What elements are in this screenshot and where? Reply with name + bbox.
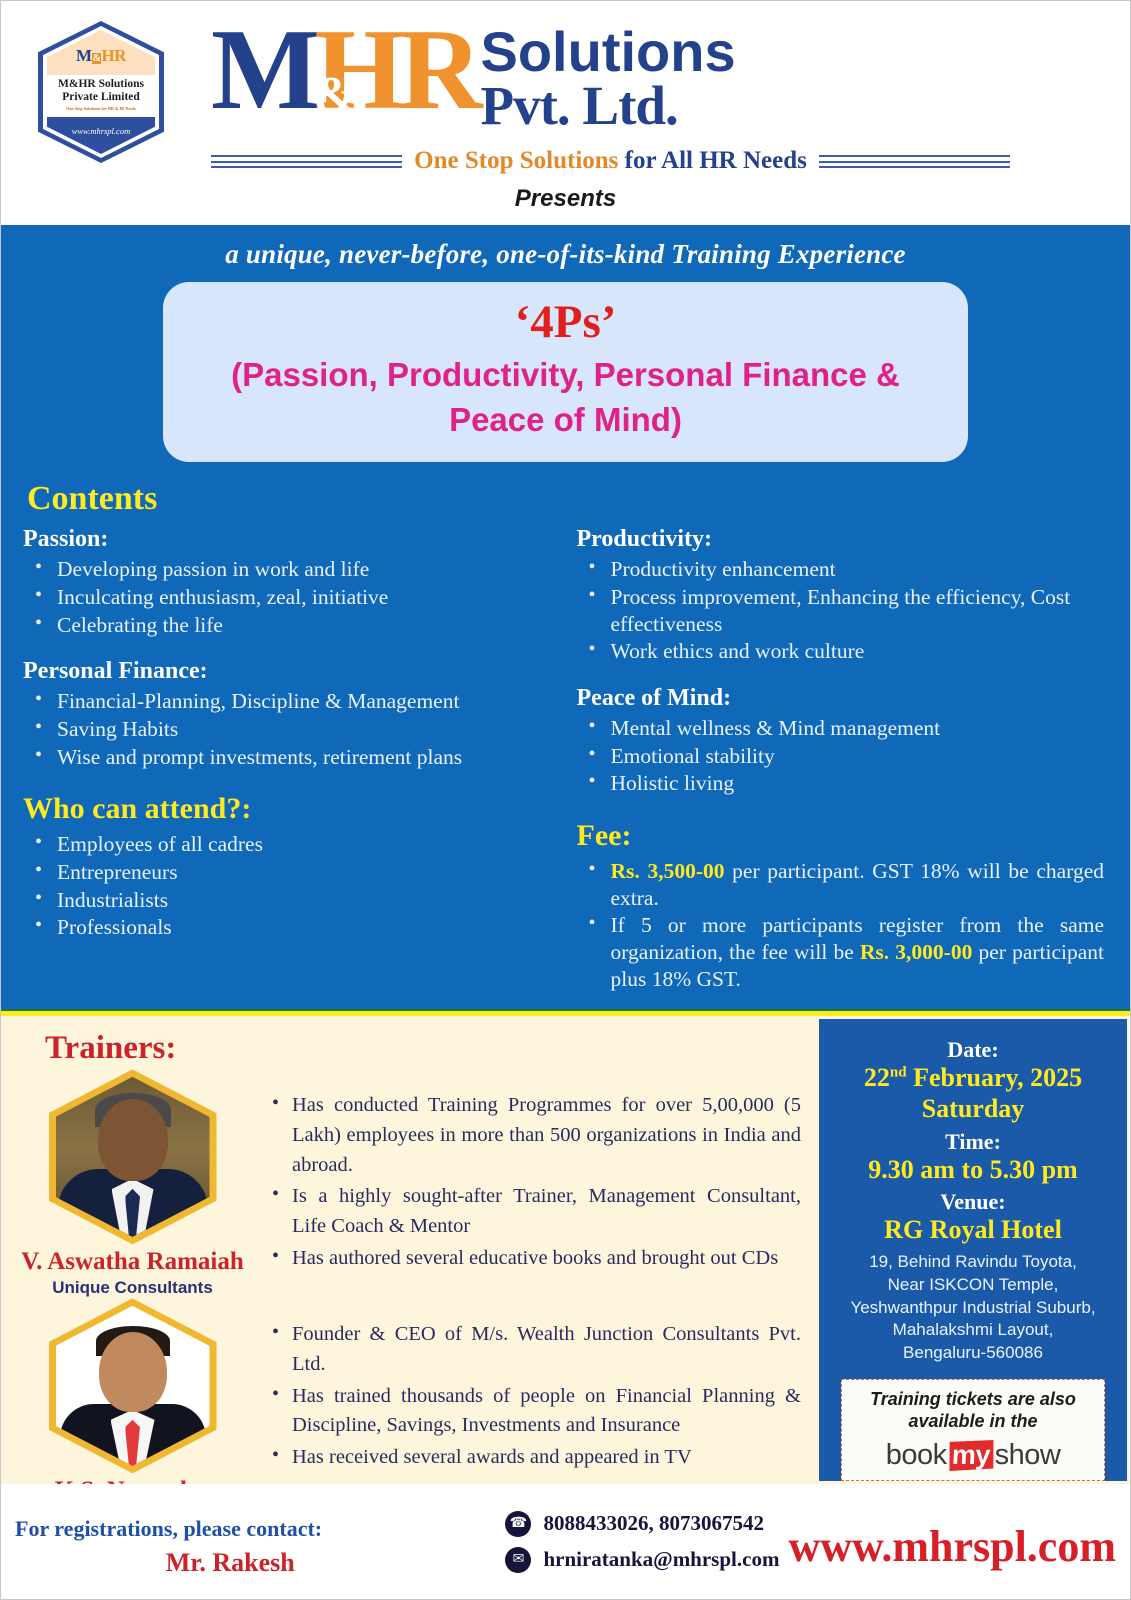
phone-numbers[interactable]: 8088433026, 8073067542 xyxy=(543,1511,764,1536)
venue-address: 19, Behind Ravindu Toyota, Near ISKCON T… xyxy=(829,1251,1117,1365)
list-personal-finance: Financial-Planning, Discipline & Managem… xyxy=(25,688,555,770)
brand-mhr: MHR& xyxy=(211,17,477,124)
logo-line-3: One Stop Solutions for HR & IR Needs xyxy=(47,106,155,111)
event-date: 22nd February, 2025 xyxy=(829,1063,1117,1094)
fee-amount-group: Rs. 3,000-00 xyxy=(860,940,972,964)
contents-right-column: Productivity: Productivity enhancement P… xyxy=(577,524,1109,993)
phone-row[interactable]: ☎ 8088433026, 8073067542 xyxy=(505,1511,788,1537)
logo-website: www.mhrspl.com xyxy=(72,126,130,136)
list-item: Founder & CEO of M/s. Wealth Junction Co… xyxy=(264,1320,809,1379)
avatar xyxy=(56,1077,210,1237)
logo-line-2: Private Limited xyxy=(47,91,155,104)
trainers-venue-row: Trainers: V. Aswatha Ramaiah Uniq xyxy=(1,1016,1130,1484)
footer-contact-block: For registrations, please contact: Mr. R… xyxy=(15,1516,505,1578)
date-month-year: February, 2025 xyxy=(907,1063,1083,1092)
hero-title: ‘4Ps’ xyxy=(185,298,946,347)
trainers-section: Trainers: V. Aswatha Ramaiah Uniq xyxy=(1,1016,819,1484)
training-flyer: M&HR M&HR Solutions Private Limited One … xyxy=(0,0,1131,1600)
logo-hexagon-outer: M&HR M&HR Solutions Private Limited One … xyxy=(38,21,164,163)
tagline-text: One Stop Solutions for All HR Needs xyxy=(414,147,807,175)
bms-book: book xyxy=(886,1439,947,1472)
fee-amount-standard: Rs. 3,500-00 xyxy=(611,859,725,883)
tagline-rule-right xyxy=(819,155,1010,168)
logo-mid-text: M&HR Solutions Private Limited One Stop … xyxy=(47,75,155,117)
brand-pvt-ltd: Pvt. Ltd. xyxy=(481,78,736,133)
list-item: Has authored several educative books and… xyxy=(264,1244,809,1274)
list-item: Financial-Planning, Discipline & Managem… xyxy=(25,688,555,715)
time-label: Time: xyxy=(829,1129,1117,1155)
avatar-face xyxy=(99,1332,167,1412)
list-item: Is a highly sought-after Trainer, Manage… xyxy=(264,1182,809,1241)
registration-label: For registrations, please contact: xyxy=(15,1516,505,1542)
list-productivity: Productivity enhancement Process improve… xyxy=(579,556,1109,665)
list-fee: Rs. 3,500-00 per participant. GST 18% wi… xyxy=(579,858,1109,992)
trainer-card: K.S. Narendra Founder & CEO of M/s. Weal… xyxy=(15,1298,809,1505)
list-item: Industrialists xyxy=(25,887,555,914)
section-heading-productivity: Productivity: xyxy=(577,526,1109,553)
logo-monogram-amp: & xyxy=(92,53,102,64)
brand-letter-m: M xyxy=(211,6,315,134)
section-heading-passion: Passion: xyxy=(23,526,555,553)
footer-contact-details: ☎ 8088433026, 8073067542 ✉ hrniratanka@m… xyxy=(505,1511,788,1583)
list-item: Developing passion in work and life xyxy=(25,556,555,583)
date-day: 22 xyxy=(864,1063,890,1092)
list-item: Work ethics and work culture xyxy=(579,638,1109,665)
tagline-rule-left xyxy=(211,155,402,168)
list-item: Has received several awards and appeared… xyxy=(264,1443,809,1473)
list-item: Has trained thousands of people on Finan… xyxy=(264,1382,809,1441)
logo-top-band: M&HR xyxy=(47,30,155,75)
contents-heading: Contents xyxy=(27,480,1108,518)
logo-monogram-m: M xyxy=(76,46,92,65)
brand-ampersand: & xyxy=(314,72,357,120)
list-item: Wise and prompt investments, retirement … xyxy=(25,744,555,771)
logo-hexagon-core: M&HR M&HR Solutions Private Limited One … xyxy=(47,30,155,154)
venue-name: RG Royal Hotel xyxy=(829,1215,1117,1246)
section-heading-peace-of-mind: Peace of Mind: xyxy=(577,685,1109,712)
list-item: Process improvement, Enhancing the effic… xyxy=(579,584,1109,637)
list-item: Saving Habits xyxy=(25,716,555,743)
list-item: Productivity enhancement xyxy=(579,556,1109,583)
header: M&HR M&HR Solutions Private Limited One … xyxy=(1,1,1130,223)
trainer-bullets: Founder & CEO of M/s. Wealth Junction Co… xyxy=(264,1298,809,1475)
list-item: Celebrating the life xyxy=(25,612,555,639)
fee-heading: Fee: xyxy=(577,819,1109,853)
avatar xyxy=(56,1306,210,1466)
event-time: 9.30 am to 5.30 pm xyxy=(829,1155,1117,1186)
trainer-photo-frame xyxy=(49,1069,217,1244)
email-row[interactable]: ✉ hrniratanka@mhrspl.com xyxy=(505,1547,788,1573)
bookmyshow-logo: bookmyshow xyxy=(848,1439,1098,1472)
hero-title-sub: (Passion, Productivity, Personal Finance… xyxy=(185,353,946,442)
list-who-can-attend: Employees of all cadres Entrepreneurs In… xyxy=(25,831,555,941)
venue-label: Venue: xyxy=(829,1189,1117,1215)
main-blue-panel: a unique, never-before, one-of-its-kind … xyxy=(1,223,1130,1009)
bookmyshow-box[interactable]: Training tickets are also available in t… xyxy=(841,1379,1105,1481)
hero-title-card: ‘4Ps’ (Passion, Productivity, Personal F… xyxy=(163,282,968,462)
logo-line-1: M&HR Solutions xyxy=(47,78,155,91)
list-item: Entrepreneurs xyxy=(25,859,555,886)
logo-hexagon-inner: M&HR M&HR Solutions Private Limited One … xyxy=(43,26,159,158)
bms-show: show xyxy=(995,1439,1061,1472)
tagline-orange: One Stop Solutions xyxy=(414,147,618,174)
event-details-panel: Date: 22nd February, 2025 Saturday Time:… xyxy=(819,1019,1127,1481)
company-website[interactable]: www.mhrspl.com xyxy=(788,1521,1116,1572)
trainer-photo-column: V. Aswatha Ramaiah Unique Consultants xyxy=(15,1069,250,1298)
trainer-photo-frame xyxy=(49,1298,217,1473)
presents-label: Presents xyxy=(1,185,1130,213)
brand-right-stack: Solutions Pvt. Ltd. xyxy=(481,17,736,133)
list-item: Professionals xyxy=(25,914,555,941)
date-suffix: nd xyxy=(890,1065,907,1081)
bookmyshow-note: Training tickets are also available in t… xyxy=(848,1389,1098,1433)
brand-row: MHR& Solutions Pvt. Ltd. xyxy=(211,17,736,133)
event-weekday: Saturday xyxy=(829,1094,1117,1125)
list-item: Mental wellness & Mind management xyxy=(579,715,1109,742)
email-address[interactable]: hrniratanka@mhrspl.com xyxy=(543,1547,779,1572)
avatar-face xyxy=(98,1099,168,1181)
list-item: Has conducted Training Programmes for ov… xyxy=(264,1091,809,1180)
contents-columns: Passion: Developing passion in work and … xyxy=(23,524,1108,993)
logo-monogram-hr: HR xyxy=(101,46,126,65)
section-heading-personal-finance: Personal Finance: xyxy=(23,658,555,685)
logo-monogram: M&HR xyxy=(76,46,126,66)
trainer-bullets: Has conducted Training Programmes for ov… xyxy=(264,1069,809,1275)
who-can-attend-heading: Who can attend?: xyxy=(23,792,555,826)
hero-subtitle: a unique, never-before, one-of-its-kind … xyxy=(23,239,1108,270)
header-brand-row: M&HR M&HR Solutions Private Limited One … xyxy=(1,1,1130,151)
bms-my: my xyxy=(947,1440,995,1471)
phone-icon: ☎ xyxy=(505,1511,531,1537)
list-item: Employees of all cadres xyxy=(25,831,555,858)
trainer-org: Unique Consultants xyxy=(15,1278,250,1298)
trainer-name: V. Aswatha Ramaiah xyxy=(15,1248,250,1276)
list-item: Inculcating enthusiasm, zeal, initiative xyxy=(25,584,555,611)
list-item: Rs. 3,500-00 per participant. GST 18% wi… xyxy=(579,858,1109,911)
list-item: If 5 or more participants register from … xyxy=(579,912,1109,992)
contact-person-name: Mr. Rakesh xyxy=(15,1548,505,1578)
email-icon: ✉ xyxy=(505,1547,531,1573)
list-passion: Developing passion in work and life Incu… xyxy=(25,556,555,638)
list-peace-of-mind: Mental wellness & Mind management Emotio… xyxy=(579,715,1109,797)
trainers-heading: Trainers: xyxy=(45,1030,809,1067)
company-logo: M&HR M&HR Solutions Private Limited One … xyxy=(1,17,201,163)
list-item: Emotional stability xyxy=(579,743,1109,770)
brand-solutions: Solutions xyxy=(481,25,736,78)
contents-left-column: Passion: Developing passion in work and … xyxy=(23,524,555,993)
section-divider xyxy=(1,1009,1130,1016)
trainer-card: V. Aswatha Ramaiah Unique Consultants Ha… xyxy=(15,1069,809,1298)
tagline-blue: for All HR Needs xyxy=(618,147,806,174)
footer: For registrations, please contact: Mr. R… xyxy=(1,1484,1130,1600)
brand-wordmark: MHR& Solutions Pvt. Ltd. xyxy=(201,17,1130,133)
list-item: Holistic living xyxy=(579,770,1109,797)
date-label: Date: xyxy=(829,1037,1117,1063)
trainer-photo-column: K.S. Narendra xyxy=(15,1298,250,1505)
tagline-row: One Stop Solutions for All HR Needs xyxy=(1,147,1130,175)
